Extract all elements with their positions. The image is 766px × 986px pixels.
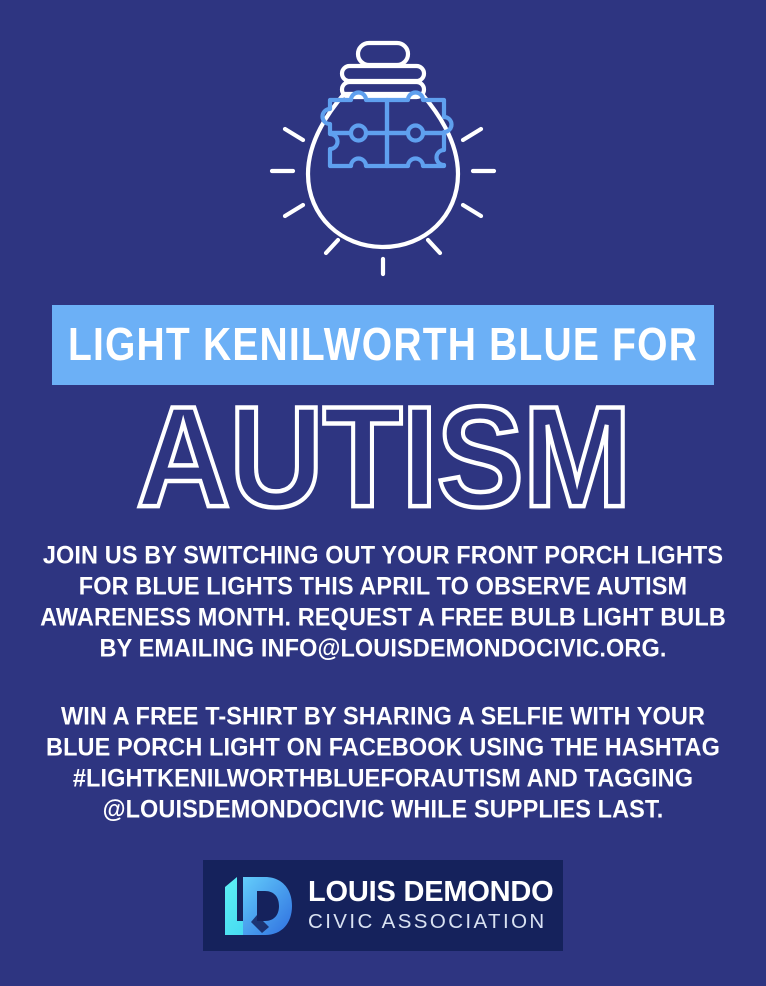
lightbulb-puzzle-icon: [0, 26, 766, 284]
paragraph-contest: WIN A FREE T-SHIRT BY SHARING A SELFIE W…: [38, 701, 728, 825]
paragraph-line: #LIGHTKENILWORTHBLUEFORAUTISM AND TAGGIN…: [38, 762, 728, 795]
paragraph-line: @LOUISDEMONDOCIVIC WHILE SUPPLIES LAST.: [38, 793, 728, 826]
paragraph-line: FOR BLUE LIGHTS THIS APRIL TO OBSERVE AU…: [38, 570, 728, 603]
organization-logo: LOUIS DEMONDO CIVIC ASSOCIATION: [203, 860, 563, 951]
banner-text: LIGHT KENILWORTH BLUE FOR: [68, 322, 698, 368]
paragraph-line: BY EMAILING INFO@LOUISDEMONDOCIVIC.ORG.: [38, 632, 728, 665]
logo-wordmark: LOUIS DEMONDO CIVIC ASSOCIATION: [308, 878, 554, 933]
paragraph-line: JOIN US BY SWITCHING OUT YOUR FRONT PORC…: [38, 539, 728, 572]
paragraph-line: WIN A FREE T-SHIRT BY SHARING A SELFIE W…: [38, 700, 728, 733]
paragraph-line: BLUE PORCH LIGHT ON FACEBOOK USING THE H…: [38, 731, 728, 764]
paragraph-instructions: JOIN US BY SWITCHING OUT YOUR FRONT PORC…: [38, 540, 728, 664]
logo-organization-name: LOUIS DEMONDO: [308, 878, 554, 908]
logo-organization-subtitle: CIVIC ASSOCIATION: [308, 911, 554, 934]
paragraph-line: AWARENESS MONTH. REQUEST A FREE BULB LIG…: [38, 601, 728, 634]
headline-banner: LIGHT KENILWORTH BLUE FOR: [52, 305, 714, 385]
ld-monogram-icon: [221, 875, 295, 937]
headline-autism: AUTISM: [0, 392, 766, 524]
headline-autism-text: AUTISM: [136, 386, 630, 529]
poster-canvas: LIGHT KENILWORTH BLUE FOR AUTISM JOIN US…: [0, 0, 766, 986]
